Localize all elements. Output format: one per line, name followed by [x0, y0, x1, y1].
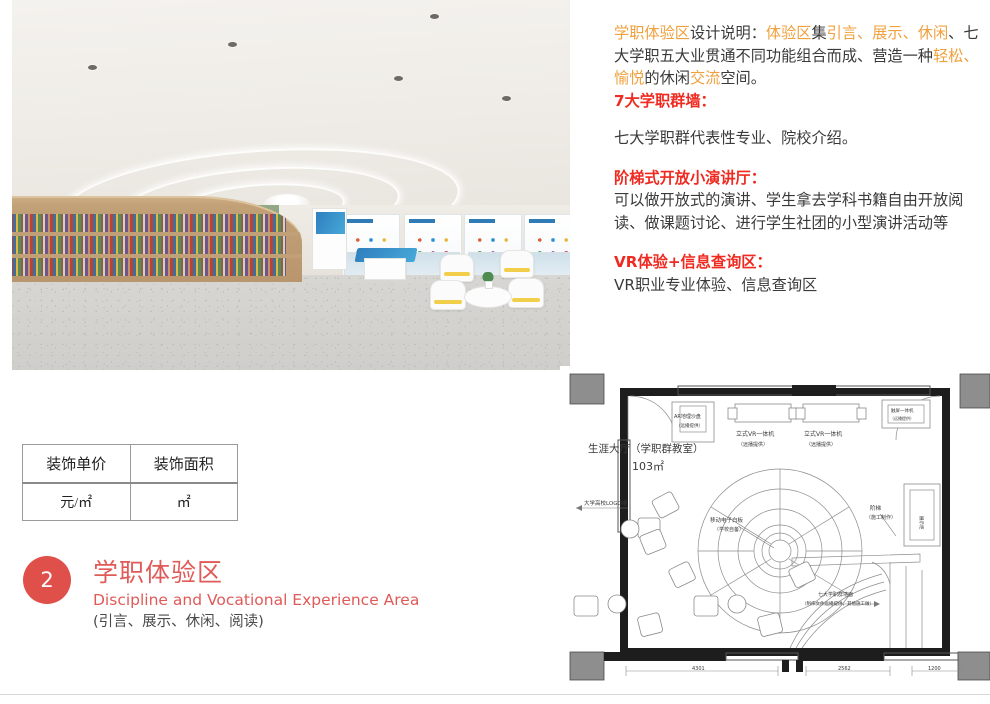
potted-plant — [480, 272, 496, 289]
lounge-chair — [430, 280, 466, 310]
page-title: 学职体验区 — [93, 557, 513, 588]
curved-bookshelf — [12, 196, 302, 282]
ar-sandbox-label: AR地理沙盘 — [674, 413, 701, 420]
dimension-1: 4301 — [692, 666, 705, 672]
table-cell-unit-price-value: 元/㎡ — [23, 483, 131, 521]
right-cabinet-label: 展示柜 — [918, 516, 925, 530]
ar-sandbox-note: （远播提供） — [676, 422, 703, 429]
downlight-icon — [502, 96, 511, 101]
vr-unit-1-label: 立式VR一体机 — [736, 430, 774, 438]
lounge-chair — [500, 250, 534, 278]
touch-screen-note: （远播提供） — [890, 415, 914, 421]
stair-amphitheatre — [698, 469, 862, 633]
room-area: 103㎡ — [632, 460, 664, 473]
room-label: 生涯大厅（学职群教室） — [588, 442, 704, 455]
intro-seg-4: 集 — [811, 24, 826, 42]
page-title-english: Discipline and Vocational Experience Are… — [93, 590, 513, 611]
intro-seg-5: 引言、展示、休闲 — [827, 24, 949, 42]
section-number-badge: 2 — [23, 556, 71, 604]
table-cell-area-value: ㎡ — [130, 483, 238, 521]
floor-plan: .w { fill:#1d1d1d; } .wl { fill:none; st… — [560, 366, 990, 686]
table-header-unit-price: 装饰单价 — [23, 445, 131, 483]
page-subtitle: (引言、展示、休闲、阅读) — [93, 612, 513, 632]
intro-seg-8: 的休闲 — [644, 69, 690, 87]
logo-wall-label: 大学高校LOGO墙 — [584, 499, 628, 507]
block-heading-lecture-hall: 阶梯式开放小演讲厅： — [614, 167, 982, 190]
design-description: 学职体验区设计说明：体验区集引言、展示、休闲、七大学职五大业贯通不同功能组合而成… — [614, 22, 982, 296]
block-body-vr-area: VR职业专业体验、信息查询区 — [614, 274, 982, 297]
dimension-3: 1200 — [928, 666, 941, 672]
block-body-career-wall: 七大学职群代表性专业、院校介绍。 — [614, 127, 982, 150]
footer-divider — [0, 694, 990, 695]
seating-cluster-2 — [574, 561, 696, 637]
stair-label: 阶梯 — [870, 504, 882, 512]
intro-paragraph: 学职体验区设计说明：体验区集引言、展示、休闲、七大学职五大业贯通不同功能组合而成… — [614, 22, 982, 90]
downlight-icon — [394, 76, 403, 81]
table-row: 元/㎡ ㎡ — [23, 483, 238, 521]
whiteboard-label: 移动电子白板 — [710, 516, 744, 524]
seating-cluster-3 — [694, 561, 816, 637]
intro-seg-1: 学职体验区 — [614, 24, 690, 42]
table-header-area: 装饰面积 — [130, 445, 238, 483]
round-table — [464, 286, 512, 308]
table-header-row: 装饰单价 装饰面积 — [23, 445, 238, 483]
cost-table: 装饰单价 装饰面积 元/㎡ ㎡ — [22, 444, 238, 521]
slide-page: 学职体验区设计说明：体验区集引言、展示、休闲、七大学职五大业贯通不同功能组合而成… — [0, 0, 990, 704]
vr-unit-1-note: （远播提供） — [738, 441, 768, 448]
lounge-chair — [440, 254, 474, 282]
career-wall-label: 七大学职群墙面 — [818, 591, 853, 598]
touch-kiosk — [312, 208, 347, 270]
block-heading-vr-area: VR体验+信息查询区： — [614, 251, 982, 274]
section-title-group: 学职体验区 Discipline and Vocational Experien… — [93, 557, 513, 632]
block-body-lecture-hall: 可以做开放式的演讲、学生拿去学科书籍自由开放阅读、做课题讨论、进行学生社团的小型… — [614, 189, 982, 234]
interactive-table-base — [364, 258, 406, 280]
block-heading-career-wall: 7大学职群墙： — [614, 90, 982, 113]
vr-unit-2-label: 立式VR一体机 — [804, 430, 842, 438]
intro-seg-10: 空间。 — [720, 69, 766, 87]
stair-note: （施工制作） — [866, 514, 896, 521]
lounge-chair — [508, 278, 544, 308]
dimension-2: 2562 — [838, 666, 851, 672]
books — [12, 214, 286, 276]
career-wall-note: （制作文件远播提供，其他施工做） — [802, 600, 874, 607]
vr-unit-2-note: （远播提供） — [806, 441, 836, 448]
downlight-icon — [88, 65, 97, 70]
touch-screen-label: 触屏一体机 — [891, 407, 914, 414]
intro-seg-3: 体验区 — [766, 24, 812, 42]
downlight-icon — [430, 14, 439, 19]
intro-seg-2: 设计说明： — [690, 24, 766, 42]
intro-seg-9: 交流 — [690, 69, 720, 87]
downlight-icon — [228, 42, 237, 47]
interior-render-photo — [12, 0, 570, 370]
whiteboard-note: （学校自备） — [714, 526, 744, 533]
